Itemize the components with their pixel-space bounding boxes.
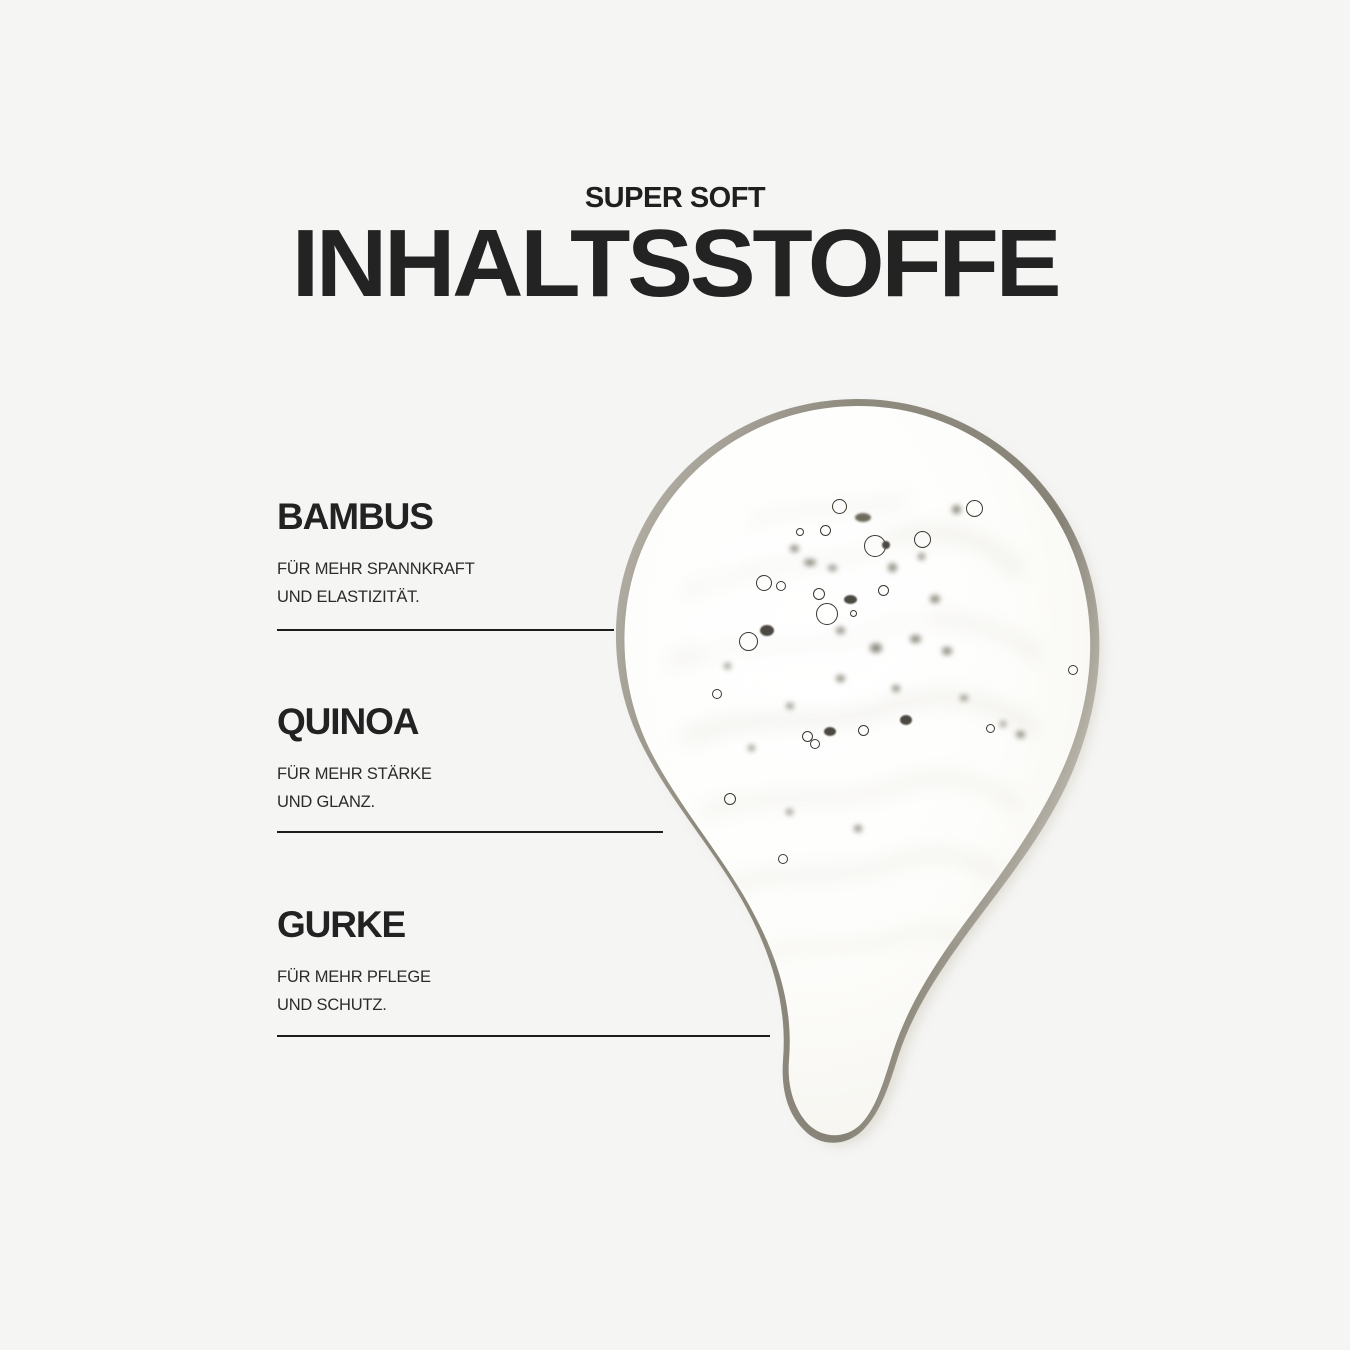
bubble-icon [820,525,831,536]
ingredient-description: FÜR MEHR SPANNKRAFT UND ELASTIZITÄT. [277,535,475,611]
speck-mark [960,695,968,701]
ingredient-item-quinoa: QUINOA FÜR MEHR STÄRKE UND GLANZ. [277,703,432,816]
speck-mark [824,727,836,736]
speck-mark [1000,721,1006,727]
speck-mark [828,565,837,571]
connector-line-quinoa [277,831,663,833]
ingredient-description: FÜR MEHR STÄRKE UND GLANZ. [277,740,432,816]
connector-line-gurke [277,1035,770,1037]
bubble-icon [832,499,847,514]
ingredient-item-gurke: GURKE FÜR MEHR PFLEGE UND SCHUTZ. [277,906,431,1019]
product-swatch-image [600,395,1120,1155]
bubble-icon [914,531,931,548]
bubble-icon [966,500,983,517]
bubble-icon [776,581,786,591]
bubble-icon [778,854,788,864]
bubble-icon [986,724,995,733]
speck-mark [888,563,897,572]
speck-mark [748,745,755,751]
bubble-icon [756,575,772,591]
speck-mark [1016,731,1025,738]
ingredient-description: FÜR MEHR PFLEGE UND SCHUTZ. [277,943,431,1019]
speck-mark [836,627,845,634]
ingredient-name: QUINOA [277,703,432,740]
speck-mark [844,595,857,604]
bubble-icon [878,585,889,596]
page-title: INHALTSSTOFFE [0,216,1350,312]
ingredient-description-line: FÜR MEHR STÄRKE [277,765,432,783]
speck-mark [855,513,871,522]
ingredient-description-line: UND ELASTIZITÄT. [277,588,420,606]
speck-mark [930,595,940,603]
ingredient-name: BAMBUS [277,498,475,535]
speck-mark [882,541,890,549]
speck-mark [804,559,816,566]
bubble-icon [858,725,869,736]
ingredient-description-line: FÜR MEHR SPANNKRAFT [277,560,475,578]
speck-mark [786,809,793,815]
speck-mark [760,625,774,636]
speck-mark [892,685,900,692]
bubble-icon [712,689,722,699]
speck-mark [918,553,925,560]
speck-mark [854,825,862,832]
bubble-icon [739,632,758,651]
connector-line-bambus [277,629,614,631]
ingredient-item-bambus: BAMBUS FÜR MEHR SPANNKRAFT UND ELASTIZIT… [277,498,475,611]
speck-mark [790,545,799,552]
bubble-icon [724,793,736,805]
ingredients-poster: SUPER SOFT INHALTSSTOFFE [0,0,1350,1350]
bubble-icon [810,739,820,749]
speck-mark [952,505,961,514]
bubble-icon [796,528,804,536]
speck-mark [900,715,912,725]
speck-mark [786,703,794,709]
ingredient-description-line: FÜR MEHR PFLEGE [277,968,431,986]
ingredient-name: GURKE [277,906,431,943]
ingredient-description-line: UND SCHUTZ. [277,996,387,1014]
bubble-icon [850,610,857,617]
bubble-icon [813,588,825,600]
speck-mark [870,643,882,653]
bubble-icon [816,603,838,625]
speck-mark [910,635,921,643]
ingredient-description-line: UND GLANZ. [277,793,375,811]
bubble-icon [1068,665,1078,675]
speck-mark [724,663,731,669]
speck-mark [942,647,952,655]
cream-swatch-shape [600,395,1120,1155]
eyebrow-label: SUPER SOFT [0,184,1350,213]
speck-mark [836,675,845,682]
